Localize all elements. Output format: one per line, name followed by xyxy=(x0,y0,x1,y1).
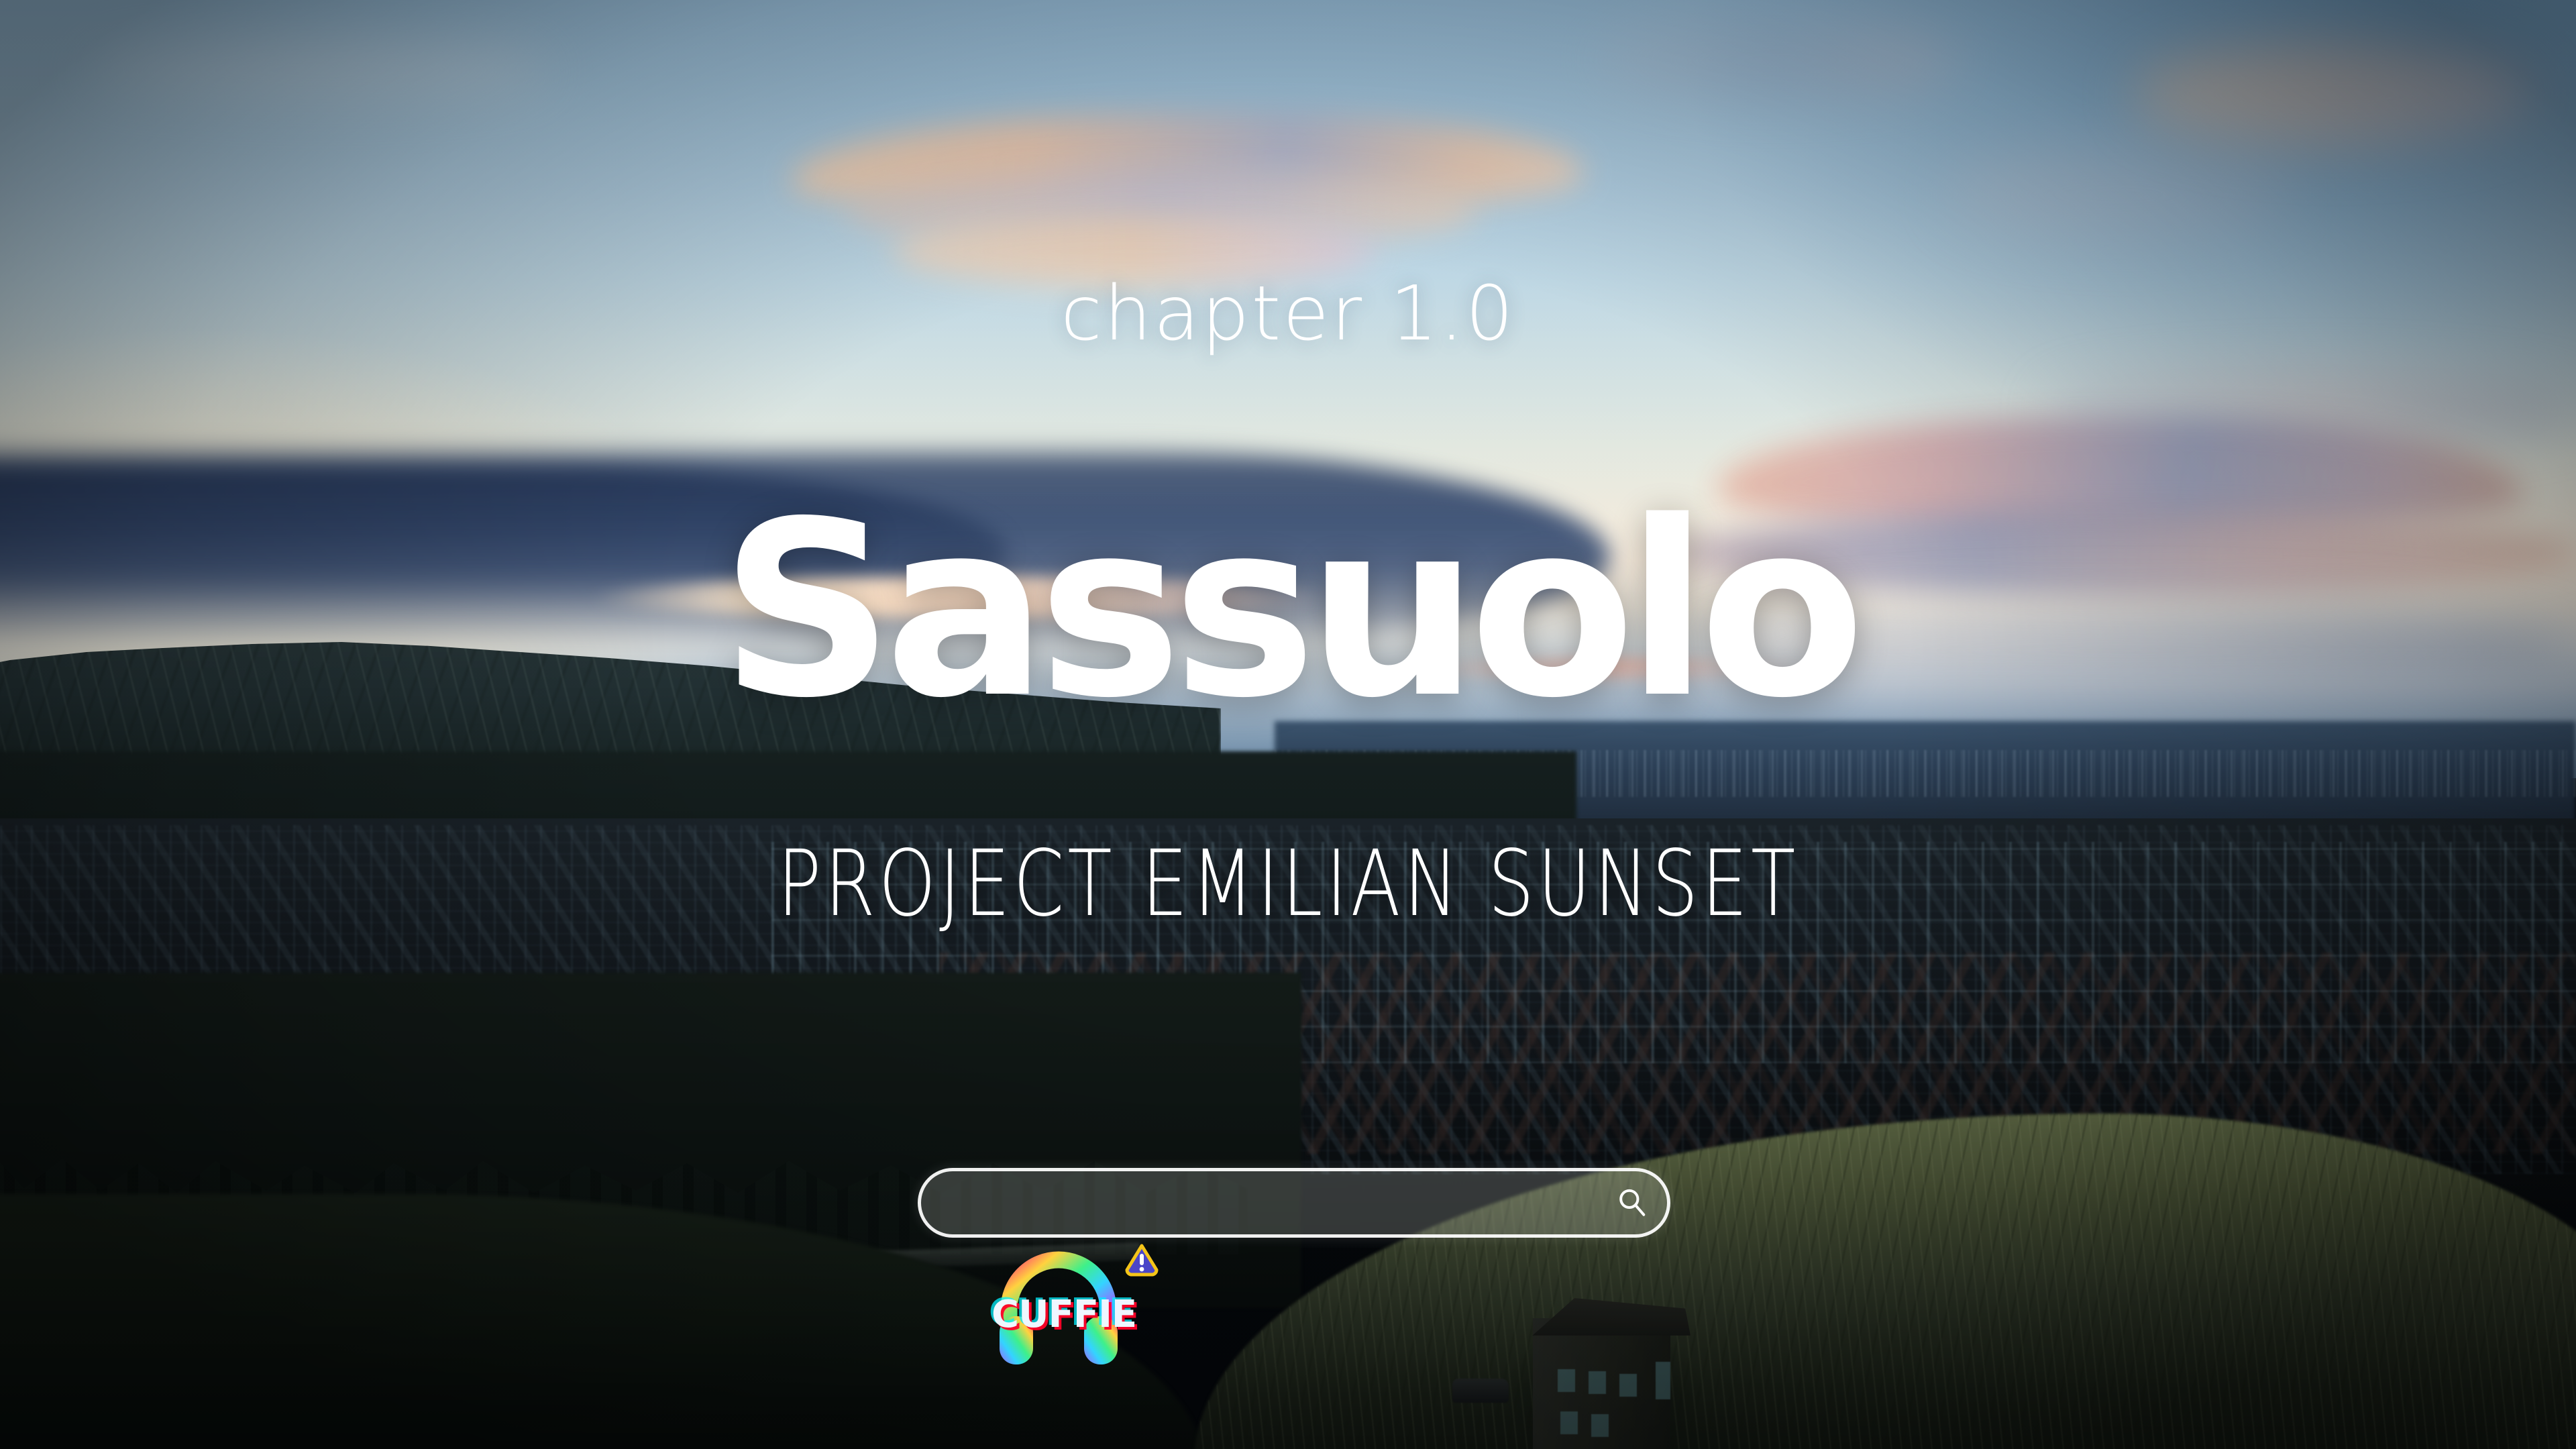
page-title: Sassuolo xyxy=(0,490,2576,731)
title-overlay: chapter 1.0 Sassuolo PROJECT EMILIAN SUN… xyxy=(0,0,2576,1449)
cuffie-watermark[interactable]: CUFFIE xyxy=(991,1238,1152,1366)
warning-triangle-icon xyxy=(1124,1242,1159,1277)
cuffie-brand-text: CUFFIE xyxy=(991,1296,1126,1334)
chapter-label: chapter 1.0 xyxy=(0,276,2576,352)
search-icon[interactable] xyxy=(1597,1168,1667,1238)
title-card-stage: chapter 1.0 Sassuolo PROJECT EMILIAN SUN… xyxy=(0,0,2576,1449)
search-bar[interactable] xyxy=(918,1168,1670,1238)
project-subtitle: PROJECT EMILIAN SUNSET xyxy=(258,839,2318,930)
search-input[interactable] xyxy=(921,1171,1597,1234)
